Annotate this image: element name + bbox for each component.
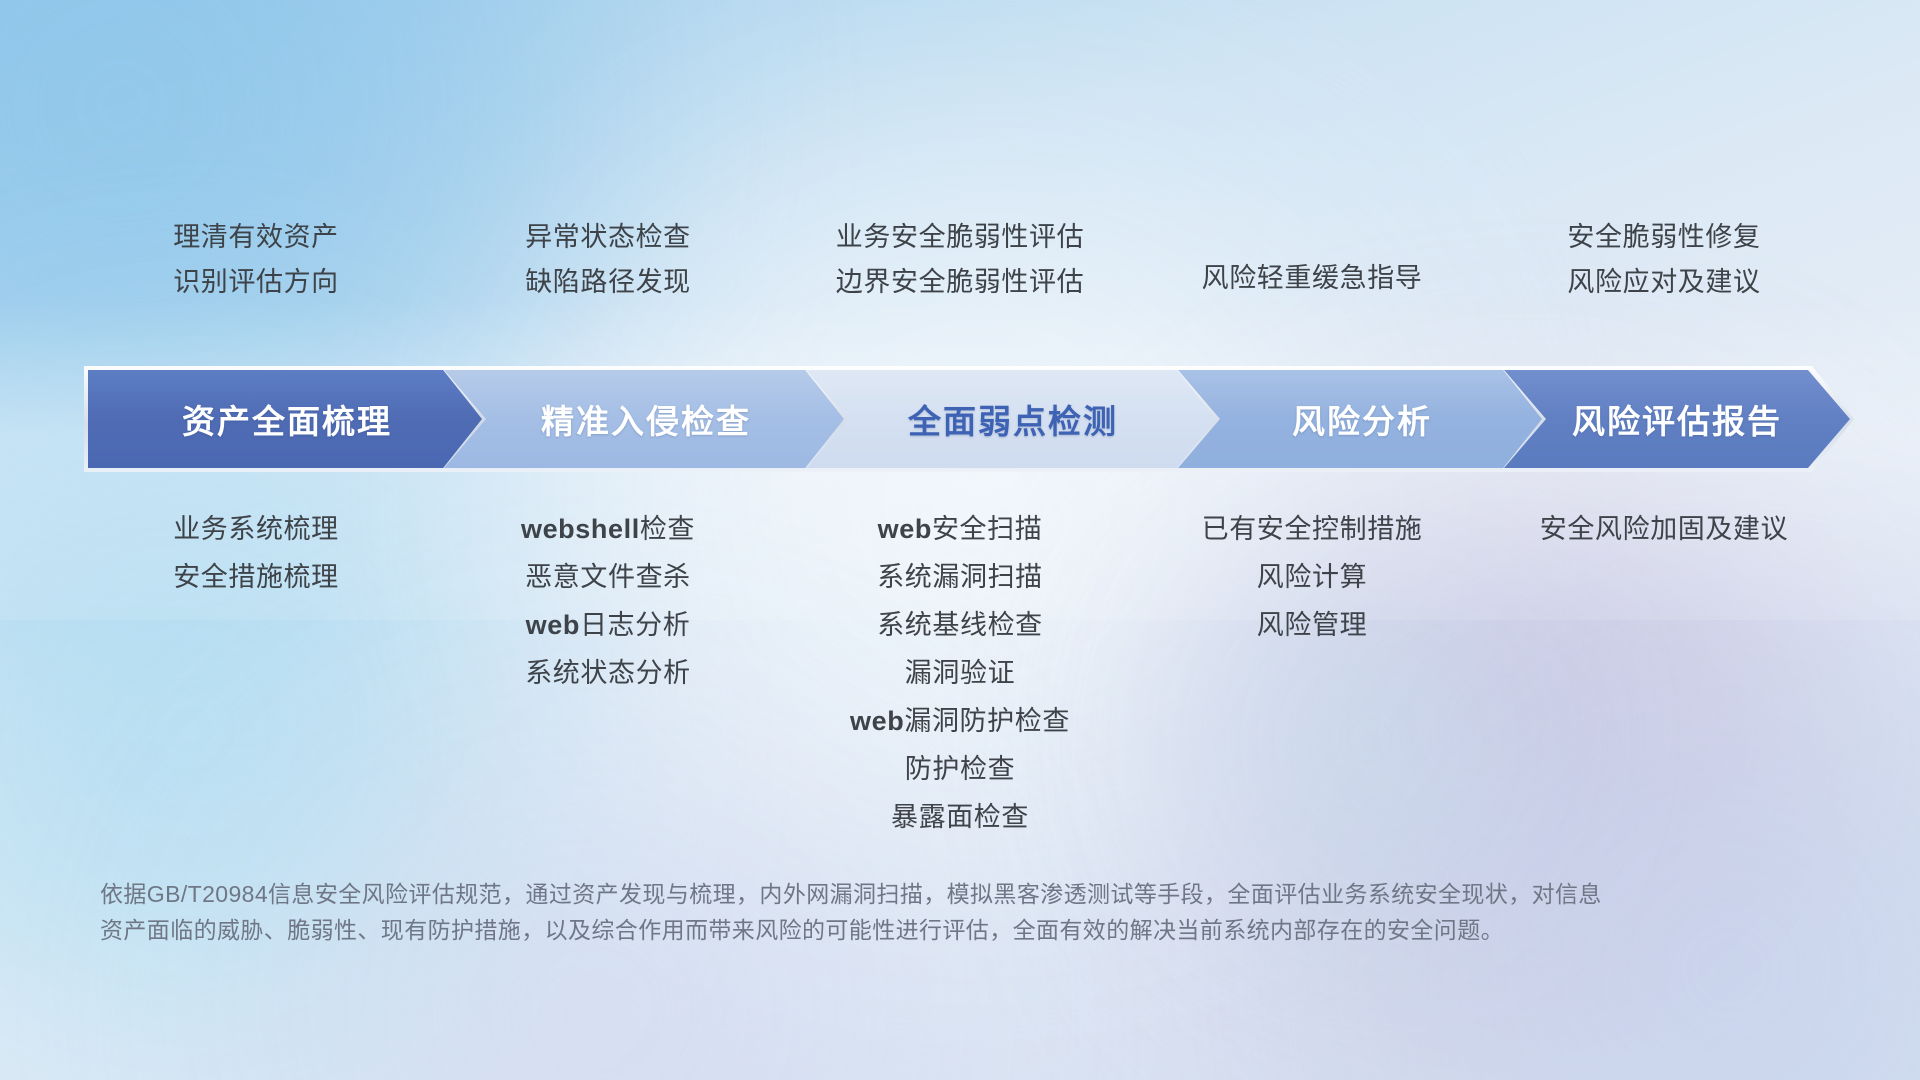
footer-line: 资产面临的威胁、脆弱性、现有防护措施，以及综合作用而带来风险的可能性进行评估，全…	[100, 912, 1600, 948]
process-step-label: 精准入侵检查	[541, 395, 751, 443]
bottom-label-group-5: 安全风险加固及建议	[1488, 500, 1840, 860]
bottom-label-row: 业务系统梳理 安全措施梳理 webshell检查 恶意文件查杀 web日志分析 …	[80, 500, 1840, 860]
top-label: 安全脆弱性修复	[1567, 222, 1760, 253]
top-label-group-1: 理清有效资产 识别评估方向	[80, 222, 432, 342]
top-label: 理清有效资产	[173, 222, 339, 253]
bottom-label: web漏洞防护检查	[850, 706, 1070, 737]
bottom-label: web安全扫描	[878, 514, 1043, 545]
top-label: 边界安全脆弱性评估	[836, 267, 1084, 298]
process-step-2[interactable]: 精准入侵检查	[444, 370, 848, 468]
bottom-label: 安全措施梳理	[173, 562, 339, 593]
bottom-label: 暴露面检查	[891, 802, 1029, 833]
top-label: 风险应对及建议	[1567, 267, 1760, 298]
bottom-label: 业务系统梳理	[173, 514, 339, 545]
bottom-label-group-1: 业务系统梳理 安全措施梳理	[80, 500, 432, 860]
top-label: 风险轻重缓急指导	[1202, 263, 1423, 294]
bottom-label: 防护检查	[905, 754, 1015, 785]
process-diagram: 理清有效资产 识别评估方向 异常状态检查 缺陷路径发现 业务安全脆弱性评估 边界…	[0, 0, 1920, 1080]
process-step-label: 风险评估报告	[1572, 395, 1782, 443]
top-label: 识别评估方向	[173, 267, 339, 298]
bottom-label: 恶意文件查杀	[525, 562, 691, 593]
top-label-group-4: 风险轻重缓急指导	[1136, 222, 1488, 342]
top-label-group-2: 异常状态检查 缺陷路径发现	[432, 222, 784, 342]
bottom-label: web日志分析	[526, 610, 691, 641]
bottom-label: 系统漏洞扫描	[877, 562, 1043, 593]
process-step-5[interactable]: 风险评估报告	[1504, 370, 1850, 468]
process-step-3[interactable]: 全面弱点检测	[806, 370, 1220, 468]
bottom-label: 系统基线检查	[877, 610, 1043, 641]
bottom-label: webshell检查	[521, 514, 695, 545]
process-step-label: 资产全面梳理	[182, 395, 392, 443]
bottom-label: 风险管理	[1257, 610, 1367, 641]
top-label: 缺陷路径发现	[525, 267, 691, 298]
bottom-label: 风险计算	[1257, 562, 1367, 593]
top-label-row: 理清有效资产 识别评估方向 异常状态检查 缺陷路径发现 业务安全脆弱性评估 边界…	[80, 222, 1840, 342]
footer-description: 依据GB/T20984信息安全风险评估规范，通过资产发现与梳理，内外网漏洞扫描，…	[100, 876, 1600, 948]
bottom-label: 系统状态分析	[525, 658, 691, 689]
footer-line: 依据GB/T20984信息安全风险评估规范，通过资产发现与梳理，内外网漏洞扫描，…	[100, 876, 1600, 912]
top-label-group-5: 安全脆弱性修复 风险应对及建议	[1488, 222, 1840, 342]
top-label: 异常状态检查	[525, 222, 691, 253]
bottom-label-group-4: 已有安全控制措施 风险计算 风险管理	[1136, 500, 1488, 860]
top-label: 业务安全脆弱性评估	[836, 222, 1084, 253]
bottom-label: 已有安全控制措施	[1202, 514, 1423, 545]
bottom-label: 漏洞验证	[905, 658, 1015, 689]
bottom-label-group-3: web安全扫描 系统漏洞扫描 系统基线检查 漏洞验证 web漏洞防护检查 防护检…	[784, 500, 1136, 860]
process-step-4[interactable]: 风险分析	[1178, 370, 1546, 468]
bottom-label: 安全风险加固及建议	[1540, 514, 1788, 545]
process-step-1[interactable]: 资产全面梳理	[88, 370, 486, 468]
process-arrow-band: 资产全面梳理 精准入侵检查 全面弱点检测 风险分析 风险评估报告	[88, 370, 1850, 468]
top-label-group-3: 业务安全脆弱性评估 边界安全脆弱性评估	[784, 222, 1136, 342]
process-step-label: 全面弱点检测	[908, 395, 1118, 443]
bottom-label-group-2: webshell检查 恶意文件查杀 web日志分析 系统状态分析	[432, 500, 784, 860]
process-step-label: 风险分析	[1292, 395, 1432, 443]
